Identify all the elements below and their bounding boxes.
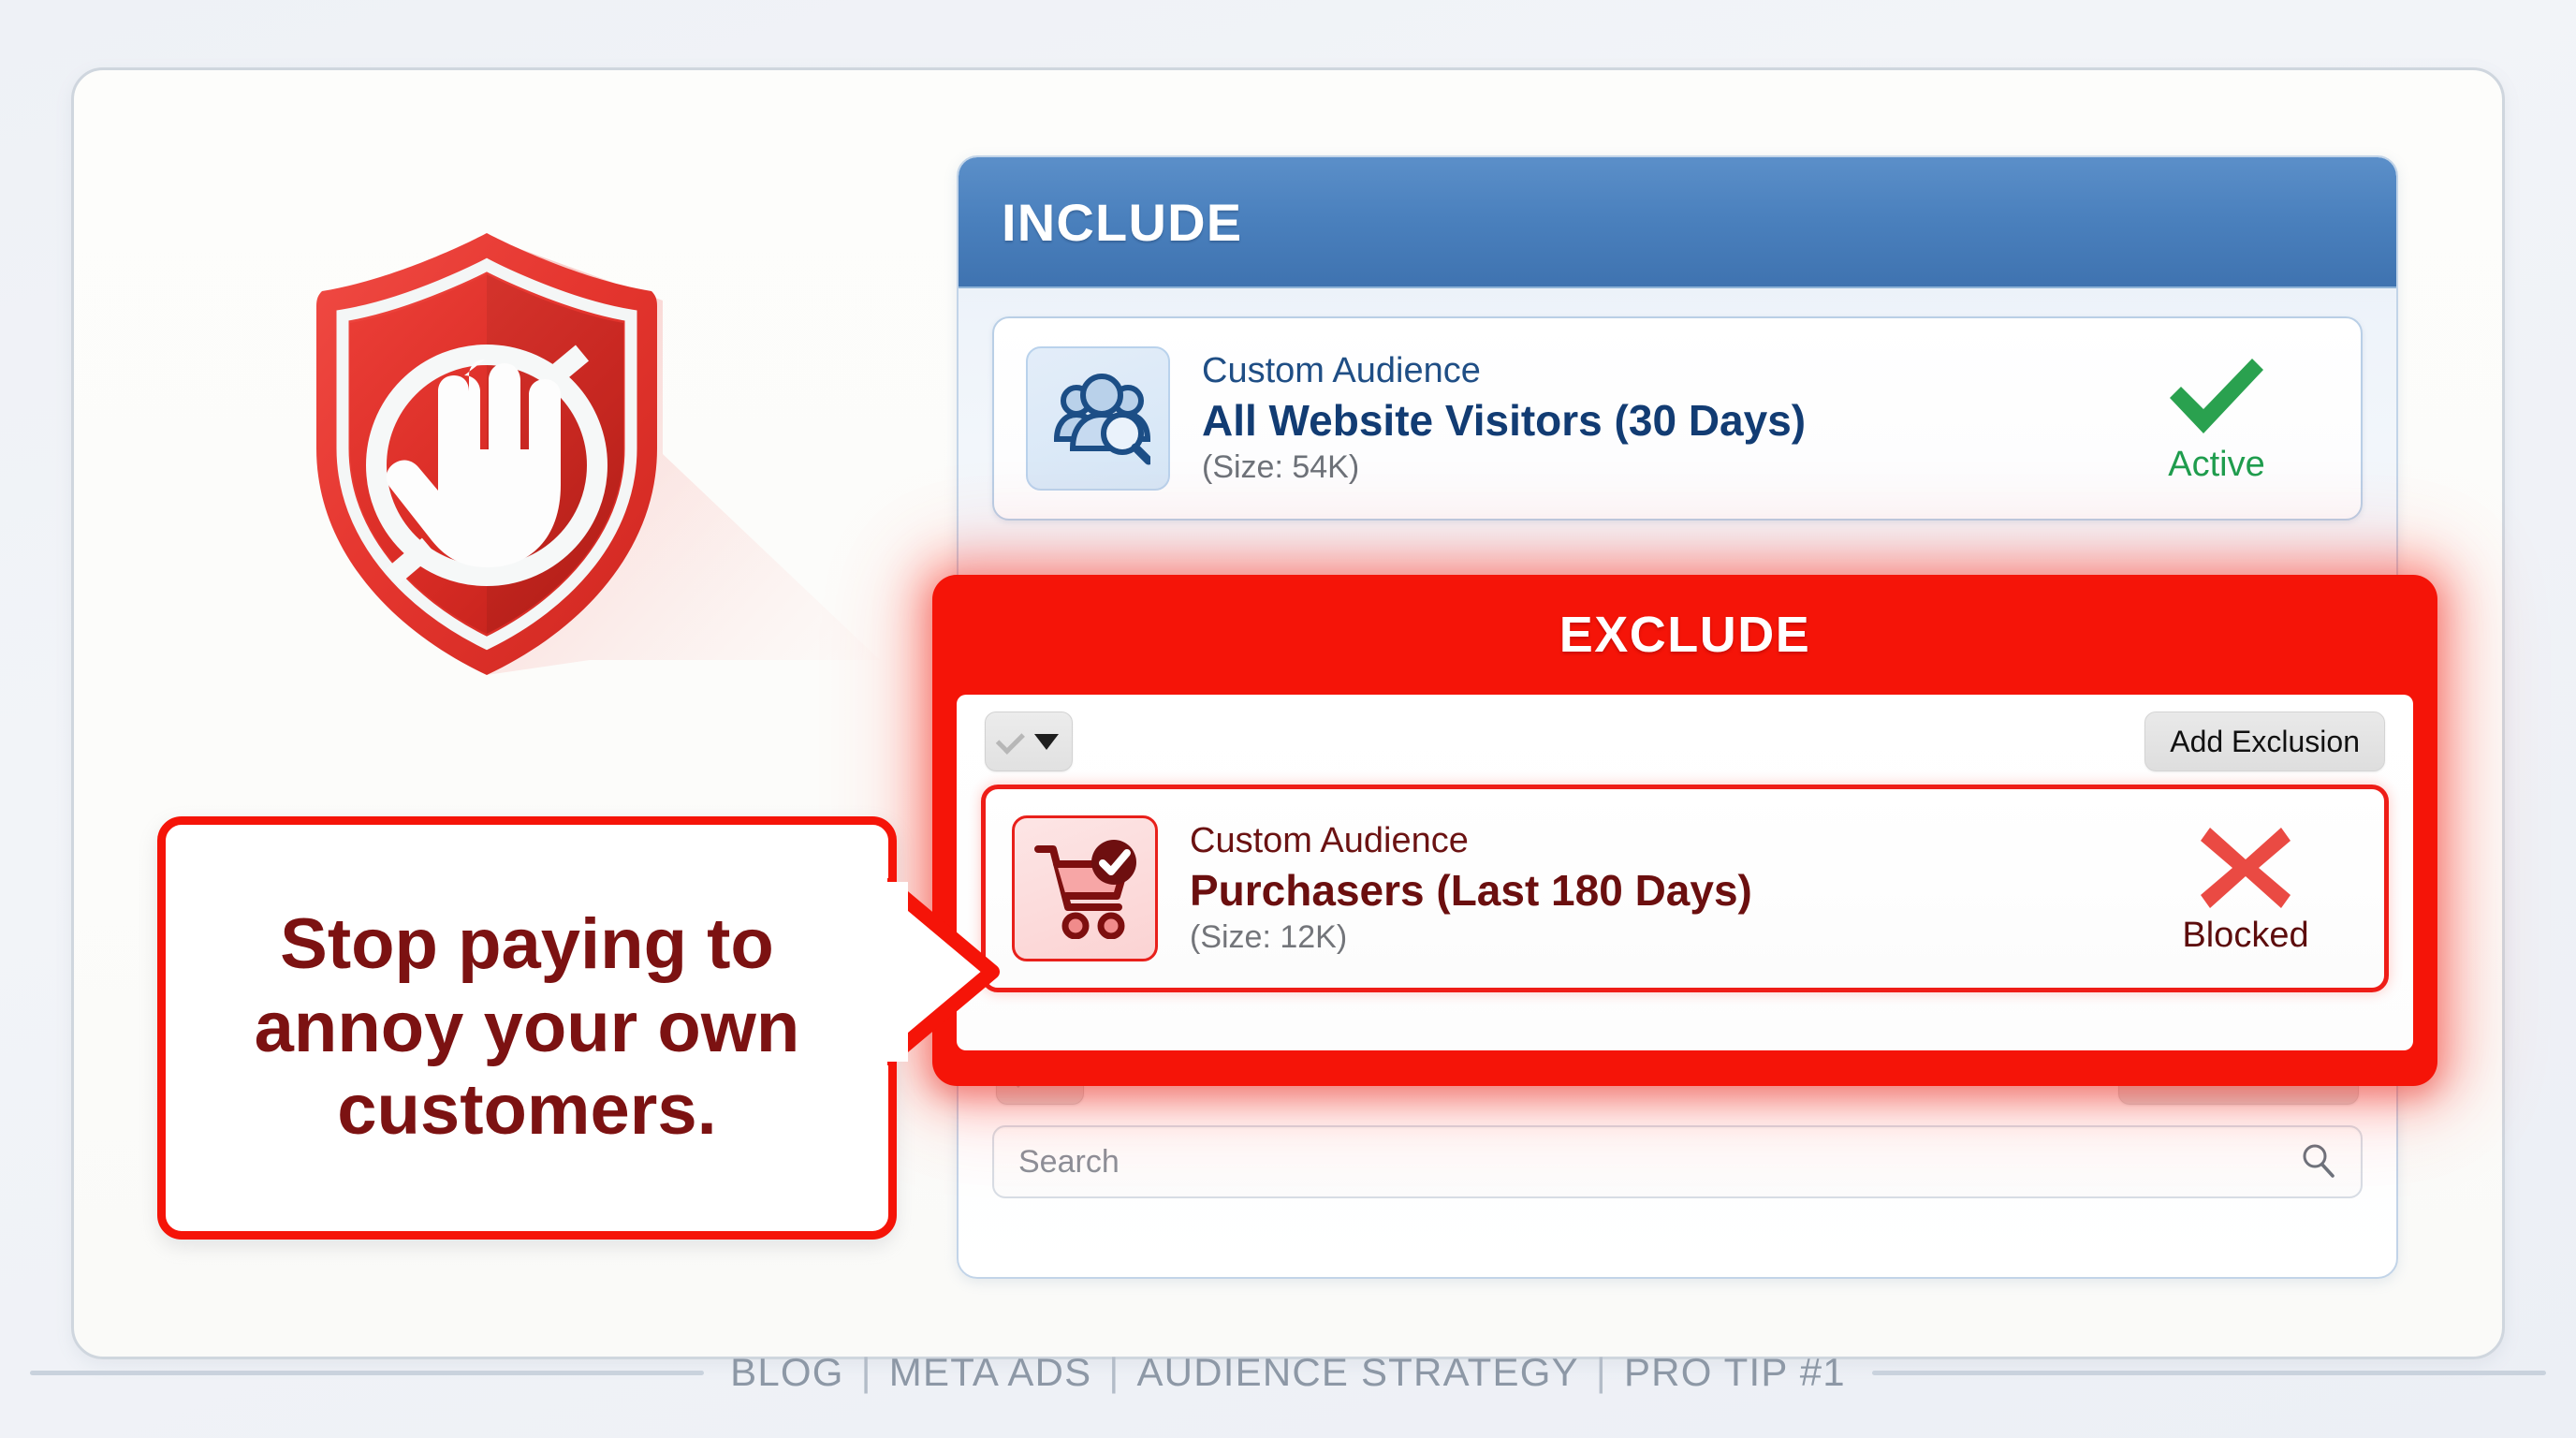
audience-kicker: Custom Audience	[1202, 351, 2104, 392]
infographic-canvas: INCLUDE	[0, 0, 2576, 1438]
breadcrumb-item-audience-strategy[interactable]: AUDIENCE STRATEGY	[1136, 1350, 1578, 1395]
search-placeholder: Search	[1018, 1144, 1120, 1181]
breadcrumb-item-blog[interactable]: BLOG	[730, 1350, 844, 1395]
exclude-title: EXCLUDE	[957, 575, 2413, 695]
triangle-down-icon	[1034, 734, 1059, 750]
audience-name: Purchasers (Last 180 Days)	[1190, 866, 2133, 916]
breadcrumb-item-meta-ads[interactable]: META ADS	[889, 1350, 1092, 1395]
exclude-top-controls: Add Exclusion	[981, 712, 2389, 771]
included-audience-status: Active	[2104, 353, 2329, 485]
status-label: Active	[2168, 445, 2264, 485]
footer-rule-right	[1872, 1371, 2546, 1375]
chevron-down-icon	[995, 725, 1024, 754]
exclude-dropdown-button[interactable]	[985, 712, 1073, 771]
audience-size: (Size: 12K)	[1190, 919, 2133, 956]
green-check-icon	[2162, 353, 2271, 443]
callout-bubble: Stop paying to annoy your own customers.	[157, 816, 897, 1240]
breadcrumb-separator: |	[1091, 1350, 1136, 1395]
exclude-panel: EXCLUDE Add Exclusion	[932, 575, 2437, 1086]
callout-text: Stop paying to annoy your own customers.	[230, 903, 825, 1153]
breadcrumb-separator: |	[844, 1350, 889, 1395]
audience-size: (Size: 54K)	[1202, 449, 2104, 486]
included-audience-text: Custom Audience All Website Visitors (30…	[1202, 351, 2104, 486]
include-title: INCLUDE	[1002, 192, 1242, 253]
callout-line-1: Stop paying to	[255, 903, 800, 987]
included-audience-row[interactable]: Custom Audience All Website Visitors (30…	[992, 316, 2363, 521]
callout-bubble-tail	[887, 878, 1000, 1065]
shield-stop-hand-icon	[281, 220, 693, 688]
audience-name: All Website Visitors (30 Days)	[1202, 396, 2104, 446]
breadcrumb-item-pro-tip[interactable]: PRO TIP #1	[1624, 1350, 1846, 1395]
search-input[interactable]: Search	[992, 1125, 2363, 1198]
search-icon[interactable]	[2299, 1141, 2336, 1183]
exclude-panel-body: Add Exclusion	[957, 695, 2413, 1050]
include-panel-header: INCLUDE	[959, 157, 2396, 288]
excluded-audience-status: Blocked	[2133, 822, 2358, 956]
status-label: Blocked	[2182, 916, 2308, 956]
excluded-audience-text: Custom Audience Purchasers (Last 180 Day…	[1190, 821, 2133, 956]
add-exclusion-button-top[interactable]: Add Exclusion	[2144, 712, 2385, 771]
callout-line-3: customers.	[255, 1069, 800, 1152]
audience-search-icon	[1026, 346, 1170, 491]
red-x-icon	[2197, 822, 2294, 914]
excluded-audience-row[interactable]: Custom Audience Purchasers (Last 180 Day…	[981, 785, 2389, 992]
footer-rule-left	[30, 1371, 704, 1375]
add-exclusion-label: Add Exclusion	[2170, 725, 2360, 759]
footer: BLOG | META ADS | AUDIENCE STRATEGY | PR…	[0, 1350, 2576, 1395]
breadcrumb: BLOG | META ADS | AUDIENCE STRATEGY | PR…	[704, 1350, 1872, 1395]
callout-line-2: annoy your own	[255, 987, 800, 1070]
audience-kicker: Custom Audience	[1190, 821, 2133, 862]
cart-check-icon	[1012, 815, 1158, 961]
breadcrumb-separator: |	[1579, 1350, 1624, 1395]
